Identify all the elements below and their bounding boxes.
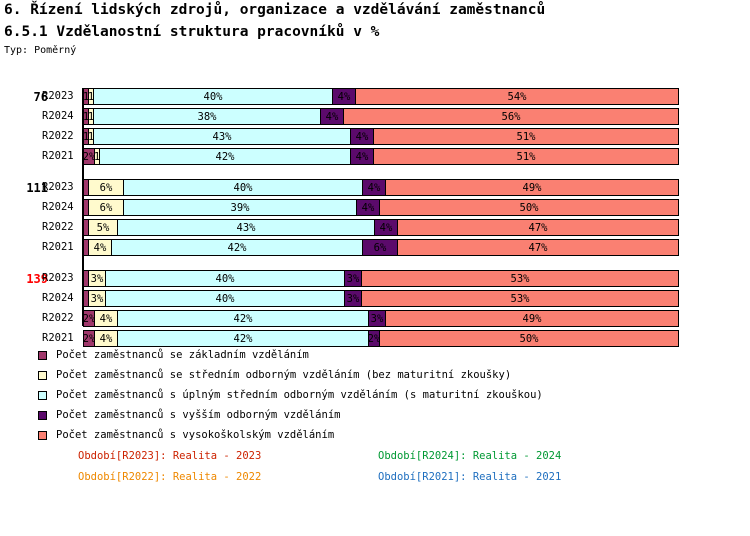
stacked-bar: 4%42%6%47% (83, 239, 679, 256)
bar-segment-university: 53% (361, 270, 679, 287)
report-title-main: 6. Řízení lidských zdrojů, organizace a … (4, 2, 545, 18)
report-type-label: Typ: Poměrný (4, 45, 76, 56)
legend-item: Počet zaměstnanců se základním vzděláním (38, 345, 543, 365)
legend-swatch-icon (38, 411, 47, 420)
bar-segment-secondary_vocational: 3% (88, 290, 106, 307)
bar-segment-secondary_vocational: 3% (88, 270, 106, 287)
chart-row: R20241138%4%56% (0, 108, 750, 125)
legend-item: Počet zaměstnanců s vysokoškolským vzděl… (38, 425, 543, 445)
legend-item: Počet zaměstnanců s vyšším odborným vzdě… (38, 405, 543, 425)
chart-row: R20243%40%3%53% (0, 290, 750, 307)
bar-segment-full_secondary: 42% (111, 239, 363, 256)
bar-segment-university: 54% (355, 88, 679, 105)
bar-segment-full_secondary: 39% (123, 199, 357, 216)
bar-segment-full_secondary: 38% (93, 108, 321, 125)
chart-row: R20236%40%4%49% (0, 179, 750, 196)
chart-row-label: R2022 (42, 130, 86, 142)
bar-segment-higher_vocational: 4% (332, 88, 356, 105)
chart-row: R20231140%4%54% (0, 88, 750, 105)
bar-segment-full_secondary: 40% (105, 290, 345, 307)
bar-segment-university: 50% (379, 199, 679, 216)
legend-label: Počet zaměstnanců s vysokoškolským vzděl… (56, 429, 334, 441)
chart-row: R20214%42%6%47% (0, 239, 750, 256)
bar-segment-higher_vocational: 3% (344, 270, 362, 287)
period-label: Období[R2022]: Realita - 2022 (78, 471, 261, 483)
bar-segment-full_secondary: 42% (117, 310, 369, 327)
chart-legend: Počet zaměstnanců se základním vzděláním… (38, 345, 543, 445)
stacked-bar-chart: 76R20231140%4%54%R20241138%4%56%R2022114… (0, 84, 750, 329)
chart-row: R20233%40%3%53% (0, 270, 750, 287)
period-row: Období[R2023]: Realita - 2023Období[R202… (78, 450, 638, 471)
legend-label: Počet zaměstnanců se základním vzděláním (56, 349, 309, 361)
chart-row-label: R2023 (42, 181, 86, 193)
chart-row-label: R2021 (42, 241, 86, 253)
legend-item: Počet zaměstnanců s úplným středním odbo… (38, 385, 543, 405)
period-legend: Období[R2023]: Realita - 2023Období[R202… (78, 450, 638, 492)
chart-row-label: R2024 (42, 110, 86, 122)
stacked-bar: 3%40%3%53% (83, 290, 679, 307)
bar-segment-full_secondary: 43% (117, 219, 375, 236)
bar-segment-higher_vocational: 4% (356, 199, 380, 216)
bar-segment-university: 51% (373, 148, 679, 165)
report-title-sub: 6.5.1 Vzdělanostní struktura pracovníků … (4, 24, 379, 40)
chart-row: R20222%4%42%3%49% (0, 310, 750, 327)
chart-row: R20221143%4%51% (0, 128, 750, 145)
stacked-bar: 1143%4%51% (83, 128, 679, 145)
legend-label: Počet zaměstnanců se středním odborným v… (56, 369, 511, 381)
legend-swatch-icon (38, 391, 47, 400)
bar-segment-university: 51% (373, 128, 679, 145)
bar-segment-secondary_vocational: 5% (88, 219, 118, 236)
bar-segment-full_secondary: 43% (93, 128, 351, 145)
chart-row-label: R2021 (42, 150, 86, 162)
chart-row-label: R2022 (42, 221, 86, 233)
stacked-bar: 5%43%4%47% (83, 219, 679, 236)
period-label: Období[R2023]: Realita - 2023 (78, 450, 261, 462)
stacked-bar: 6%40%4%49% (83, 179, 679, 196)
stacked-bar: 1138%4%56% (83, 108, 679, 125)
chart-row-label: R2023 (42, 90, 86, 102)
period-label: Období[R2024]: Realita - 2024 (378, 450, 561, 462)
bar-segment-higher_vocational: 4% (320, 108, 344, 125)
bar-segment-higher_vocational: 3% (344, 290, 362, 307)
bar-segment-secondary_vocational: 4% (88, 239, 112, 256)
stacked-bar: 1140%4%54% (83, 88, 679, 105)
bar-segment-university: 47% (397, 219, 679, 236)
bar-segment-higher_vocational: 4% (362, 179, 386, 196)
period-row: Období[R2022]: Realita - 2022Období[R202… (78, 471, 638, 492)
bar-segment-higher_vocational: 4% (374, 219, 398, 236)
bar-segment-university: 53% (361, 290, 679, 307)
chart-row-label: R2024 (42, 292, 86, 304)
chart-row: R20246%39%4%50% (0, 199, 750, 216)
bar-segment-secondary_vocational: 4% (94, 310, 118, 327)
legend-label: Počet zaměstnanců s vyšším odborným vzdě… (56, 409, 340, 421)
bar-segment-secondary_vocational: 6% (88, 179, 124, 196)
stacked-bar: 3%40%3%53% (83, 270, 679, 287)
bar-segment-higher_vocational: 4% (350, 128, 374, 145)
period-label: Období[R2021]: Realita - 2021 (378, 471, 561, 483)
bar-segment-full_secondary: 40% (105, 270, 345, 287)
legend-label: Počet zaměstnanců s úplným středním odbo… (56, 389, 543, 401)
chart-row-label: R2022 (42, 312, 86, 324)
bar-segment-full_secondary: 40% (93, 88, 333, 105)
bar-segment-university: 49% (385, 179, 679, 196)
legend-swatch-icon (38, 351, 47, 360)
chart-row: R20212%142%4%51% (0, 148, 750, 165)
legend-swatch-icon (38, 431, 47, 440)
bar-segment-secondary_vocational: 6% (88, 199, 124, 216)
chart-row-label: R2024 (42, 201, 86, 213)
stacked-bar: 2%142%4%51% (83, 148, 679, 165)
legend-item: Počet zaměstnanců se středním odborným v… (38, 365, 543, 385)
bar-segment-higher_vocational: 4% (350, 148, 374, 165)
chart-row-label: R2023 (42, 272, 86, 284)
chart-row: R20225%43%4%47% (0, 219, 750, 236)
bar-segment-higher_vocational: 6% (362, 239, 398, 256)
stacked-bar: 6%39%4%50% (83, 199, 679, 216)
bar-segment-university: 49% (385, 310, 679, 327)
bar-segment-full_secondary: 42% (99, 148, 351, 165)
chart-row-label: R2021 (42, 332, 86, 344)
bar-segment-university: 47% (397, 239, 679, 256)
bar-segment-higher_vocational: 3% (368, 310, 386, 327)
legend-swatch-icon (38, 371, 47, 380)
bar-segment-full_secondary: 40% (123, 179, 363, 196)
stacked-bar: 2%4%42%3%49% (83, 310, 679, 327)
bar-segment-university: 56% (343, 108, 679, 125)
